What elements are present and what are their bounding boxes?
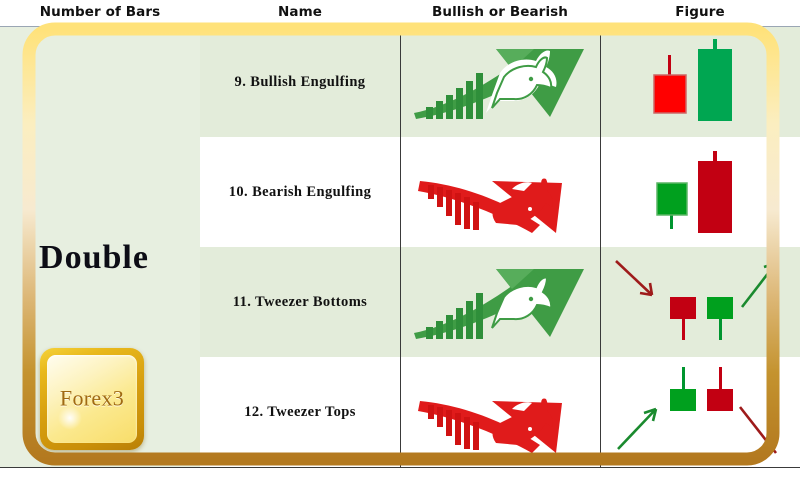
- figure-cell: [600, 27, 800, 137]
- table-row[interactable]: 11. Tweezer Bottoms: [200, 247, 800, 357]
- bullish-engulfing-candles: [600, 27, 800, 137]
- figure-cell: [600, 247, 800, 357]
- table-bottom-border: [0, 467, 800, 468]
- screenshot-root: Number of Bars Name Bullish or Bearish F…: [0, 0, 800, 480]
- bias-icon-cell: [400, 137, 600, 247]
- bias-icon-cell: [400, 357, 600, 467]
- column-divider: [600, 27, 601, 467]
- red-bear-down-arrow-icon: [400, 357, 600, 467]
- green-bull-up-arrow-icon: [400, 27, 600, 137]
- pattern-name: 9. Bullish Engulfing: [200, 27, 400, 137]
- table-row[interactable]: 9. Bullish Engulfing: [200, 27, 800, 137]
- table-row[interactable]: 10. Bearish Engulfing: [200, 137, 800, 247]
- bias-icon-cell: [400, 27, 600, 137]
- green-bull-up-arrow-icon: [400, 247, 600, 357]
- figure-cell: [600, 357, 800, 467]
- column-header-figure: Figure: [600, 0, 800, 26]
- bias-icon-cell: [400, 247, 600, 357]
- table-header-row: Number of Bars Name Bullish or Bearish F…: [0, 0, 800, 27]
- column-header-number-of-bars: Number of Bars: [0, 0, 200, 26]
- tweezer-bottoms-candles: [600, 247, 800, 357]
- tweezer-tops-candles: [600, 357, 800, 467]
- bearish-engulfing-candles: [600, 137, 800, 247]
- forex3-logo-gloss: [58, 406, 82, 430]
- group-label-double: Double: [0, 239, 200, 277]
- figure-cell: [600, 137, 800, 247]
- column-header-name: Name: [200, 0, 400, 26]
- forex3-logo: Forex3: [40, 348, 144, 450]
- column-divider: [400, 27, 401, 467]
- forex3-logo-inner: Forex3: [47, 355, 137, 443]
- red-bear-down-arrow-icon: [400, 137, 600, 247]
- table-row[interactable]: 12. Tweezer Tops: [200, 357, 800, 467]
- column-header-bullish-or-bearish: Bullish or Bearish: [400, 0, 600, 26]
- pattern-name: 10. Bearish Engulfing: [200, 137, 400, 247]
- forex3-logo-text: Forex3: [47, 385, 137, 411]
- pattern-name: 12. Tweezer Tops: [200, 357, 400, 467]
- pattern-name: 11. Tweezer Bottoms: [200, 247, 400, 357]
